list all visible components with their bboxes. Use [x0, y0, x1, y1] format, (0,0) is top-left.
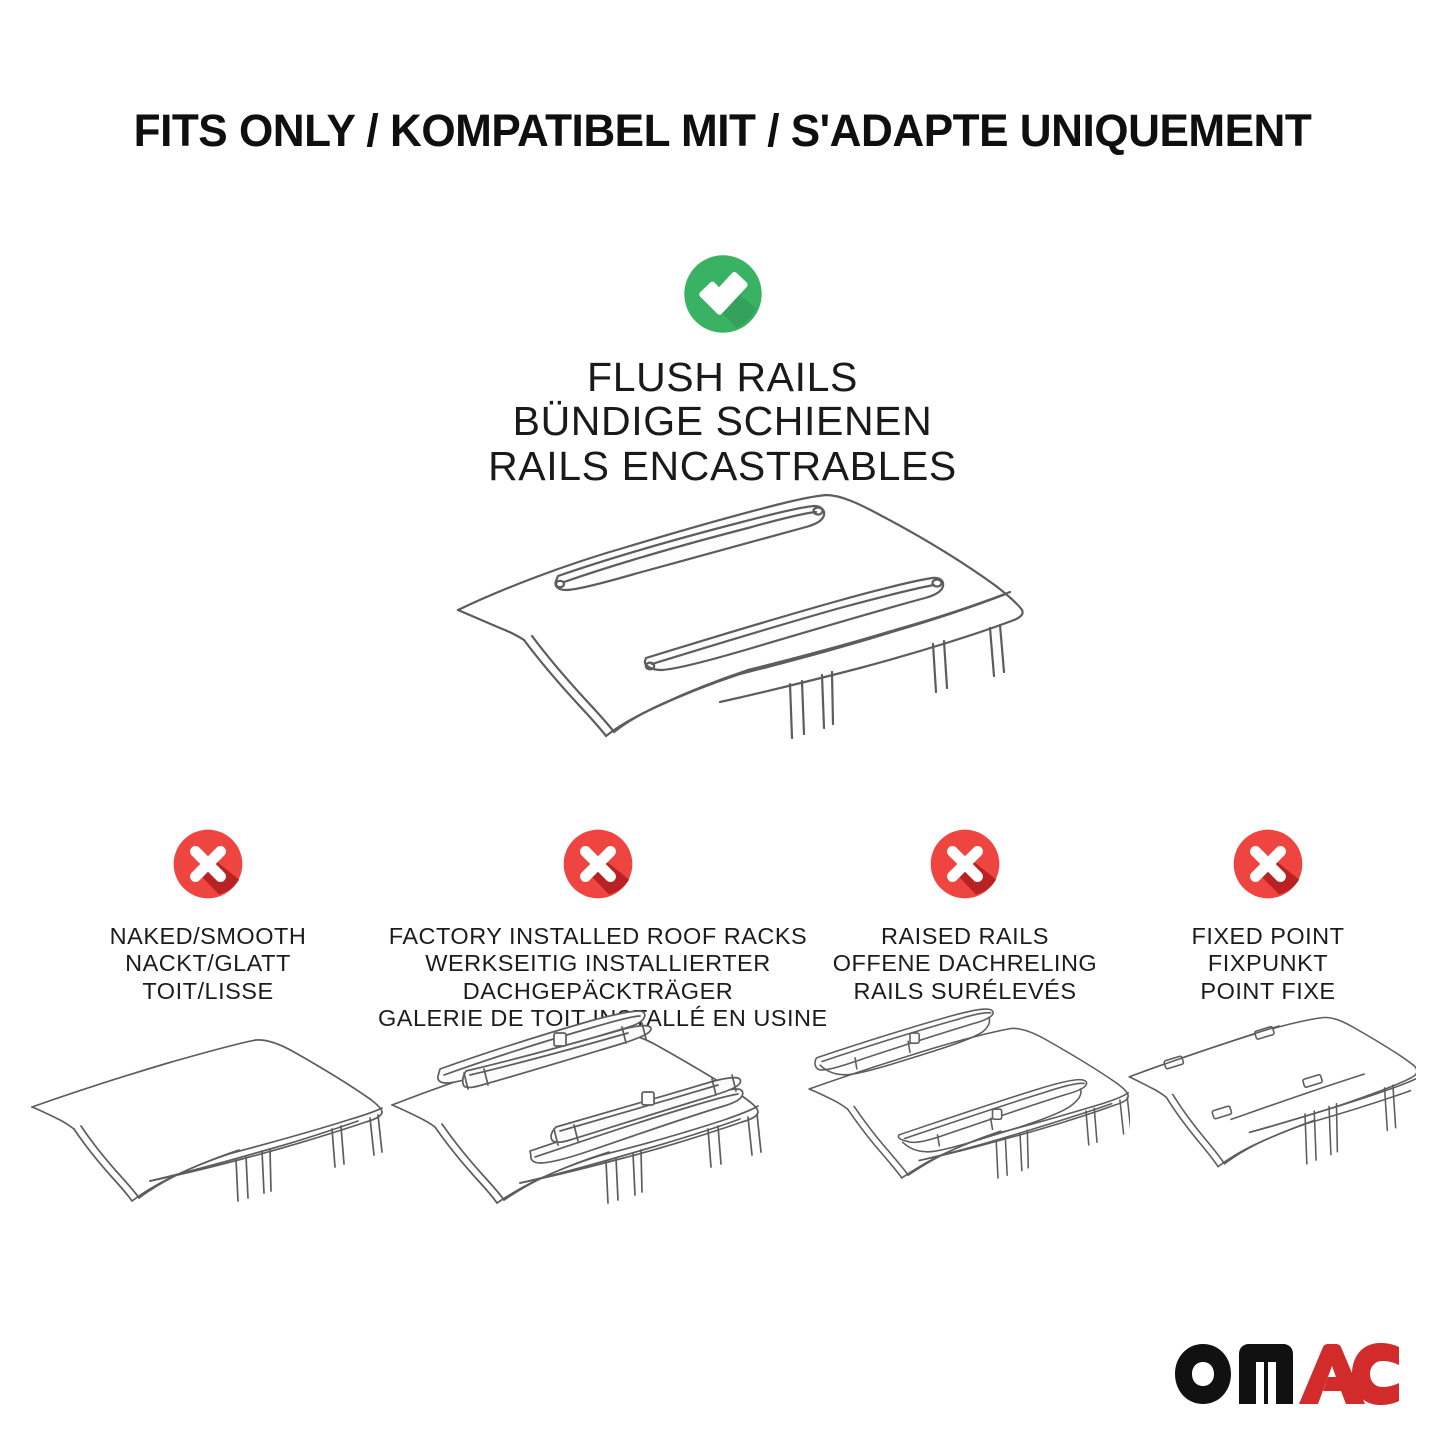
- compatible-label-en: FLUSH RAILS: [0, 355, 1445, 399]
- car-roof-naked-smooth-illustration: [18, 1011, 398, 1241]
- check-circle-icon: [679, 250, 767, 338]
- incompatible-labels: FIXED POINT FIXPUNKT POINT FIXE: [1120, 923, 1416, 1005]
- cross-circle-icon: [926, 825, 1004, 903]
- car-roof-with-flush-rails-illustration: [440, 470, 1040, 770]
- cross-circle-icon: [1229, 825, 1307, 903]
- cross-circle-icon: [559, 825, 637, 903]
- incompatible-item-fixed-point: FIXED POINT FIXPUNKT POINT FIXE: [1120, 825, 1416, 1005]
- compatible-label-de: BÜNDIGE SCHIENEN: [0, 399, 1445, 443]
- page-title: FITS ONLY / KOMPATIBEL MIT / S'ADAPTE UN…: [14, 105, 1430, 157]
- incompatible-labels: RAISED RAILS OFFENE DACHRELING RAILS SUR…: [800, 923, 1130, 1005]
- label-line-de: FIXPUNKT: [1120, 950, 1416, 977]
- incompatible-section: NAKED/SMOOTH NACKT/GLATT TOIT/LISSE: [0, 825, 1445, 1255]
- incompatible-labels: NAKED/SMOOTH NACKT/GLATT TOIT/LISSE: [18, 923, 398, 1005]
- label-line-en: NAKED/SMOOTH: [18, 923, 398, 950]
- label-line-fr: TOIT/LISSE: [18, 978, 398, 1005]
- label-line-en: FIXED POINT: [1120, 923, 1416, 950]
- incompatible-item-naked-smooth: NAKED/SMOOTH NACKT/GLATT TOIT/LISSE: [18, 825, 398, 1005]
- label-line-de: NACKT/GLATT: [18, 950, 398, 977]
- cross-circle-icon: [169, 825, 247, 903]
- compatible-labels: FLUSH RAILS BÜNDIGE SCHIENEN RAILS ENCAS…: [0, 355, 1445, 488]
- incompatible-item-raised-rails: RAISED RAILS OFFENE DACHRELING RAILS SUR…: [800, 825, 1130, 1005]
- label-line-en: FACTORY INSTALLED ROOF RACKS: [378, 923, 818, 950]
- label-line-de: OFFENE DACHRELING: [800, 950, 1130, 977]
- car-roof-raised-rails-illustration: [800, 1001, 1130, 1221]
- compatible-section: FLUSH RAILS BÜNDIGE SCHIENEN RAILS ENCAS…: [0, 250, 1445, 488]
- car-roof-fixed-point-illustration: [1120, 1001, 1416, 1214]
- label-line-en: RAISED RAILS: [800, 923, 1130, 950]
- incompatible-item-factory-roof-racks: FACTORY INSTALLED ROOF RACKS WERKSEITIG …: [378, 825, 818, 1032]
- omac-logo: [1171, 1338, 1403, 1410]
- label-line-de-1: WERKSEITIG INSTALLIERTER: [378, 950, 818, 977]
- car-roof-factory-roof-racks-illustration: [378, 1001, 818, 1241]
